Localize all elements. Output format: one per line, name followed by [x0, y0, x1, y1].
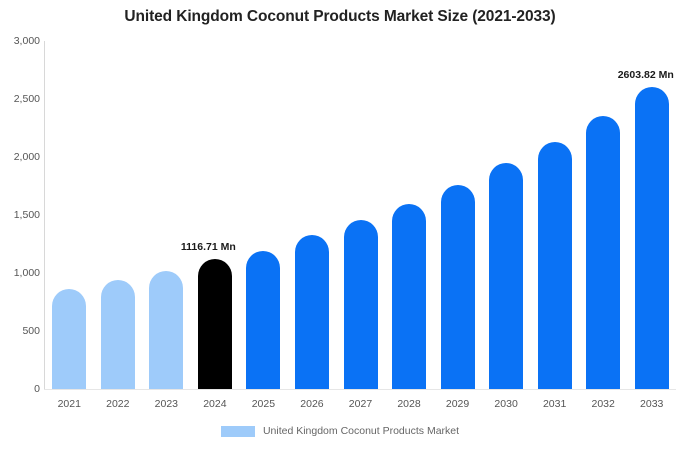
bar-2027[interactable] [344, 220, 378, 389]
x-axis-tick-label-2030: 2030 [482, 398, 531, 410]
bar-value-label-2024: 1116.71 Mn [181, 241, 236, 253]
x-axis-tick-label-2033: 2033 [627, 398, 676, 410]
bar-group[interactable] [295, 41, 329, 389]
x-axis-tick-label-2032: 2032 [579, 398, 628, 410]
y-axis-tick-label: 1,500 [2, 209, 40, 221]
y-axis-tick-label: 2,000 [2, 151, 40, 163]
x-axis-tick-label-2025: 2025 [239, 398, 288, 410]
x-axis-tick-label-2028: 2028 [385, 398, 434, 410]
y-axis-tick-label: 2,500 [2, 93, 40, 105]
bar-2022[interactable] [101, 280, 135, 389]
bar-group[interactable] [198, 41, 232, 389]
bar-2029[interactable] [441, 185, 475, 389]
bar-group[interactable] [101, 41, 135, 389]
bar-group[interactable] [246, 41, 280, 389]
bar-2024[interactable] [198, 259, 232, 389]
y-axis-tick-label: 3,000 [2, 35, 40, 47]
bar-2028[interactable] [392, 204, 426, 389]
bar-group[interactable] [392, 41, 426, 389]
bar-chart: United Kingdom Coconut Products Market S… [0, 0, 680, 450]
x-axis-tick-label-2031: 2031 [530, 398, 579, 410]
bar-2026[interactable] [295, 235, 329, 389]
bar-group[interactable] [149, 41, 183, 389]
bar-group[interactable] [586, 41, 620, 389]
y-axis-tick-label: 1,000 [2, 267, 40, 279]
x-axis-tick-label-2029: 2029 [433, 398, 482, 410]
x-axis-tick-label-2023: 2023 [142, 398, 191, 410]
x-axis-tick-label-2026: 2026 [288, 398, 337, 410]
bar-2030[interactable] [489, 163, 523, 389]
bar-2023[interactable] [149, 271, 183, 389]
x-axis-tick-label-2021: 2021 [45, 398, 94, 410]
y-axis-tick-label: 0 [2, 383, 40, 395]
x-axis-line [44, 389, 676, 390]
y-axis-tick-labels: 3,0002,5002,0001,5001,0005000 [0, 0, 40, 450]
y-axis-tick-label: 500 [2, 325, 40, 337]
bar-2021[interactable] [52, 289, 86, 389]
bar-2032[interactable] [586, 116, 620, 389]
bar-2031[interactable] [538, 142, 572, 389]
bar-group[interactable] [441, 41, 475, 389]
bar-group[interactable] [635, 41, 669, 389]
chart-title: United Kingdom Coconut Products Market S… [0, 8, 680, 26]
legend-swatch-icon [221, 426, 255, 437]
legend-label: United Kingdom Coconut Products Market [263, 425, 459, 437]
x-axis-tick-label-2027: 2027 [336, 398, 385, 410]
bar-group[interactable] [344, 41, 378, 389]
bar-2025[interactable] [246, 251, 280, 389]
bar-group[interactable] [52, 41, 86, 389]
x-axis-tick-label-2022: 2022 [94, 398, 143, 410]
bar-group[interactable] [489, 41, 523, 389]
bar-value-label-2033: 2603.82 Mn [618, 69, 674, 81]
chart-legend: United Kingdom Coconut Products Market [0, 425, 680, 437]
bar-group[interactable] [538, 41, 572, 389]
bar-2033[interactable] [635, 87, 669, 389]
plot-area [45, 41, 676, 389]
x-axis-tick-label-2024: 2024 [191, 398, 240, 410]
